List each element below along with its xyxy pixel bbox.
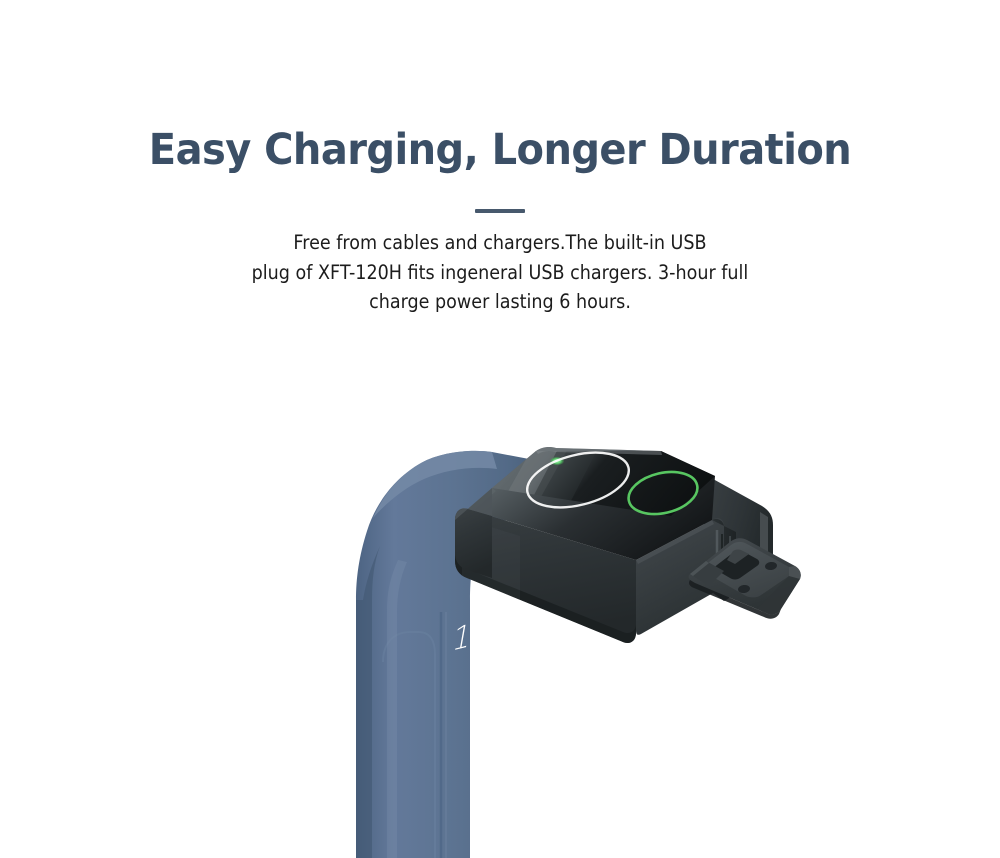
usb-contact-hole-1 (765, 561, 778, 571)
usb-plug-recess (715, 551, 759, 580)
product-feature-page: Easy Charging, Longer Duration Free from… (0, 0, 1000, 858)
strap-top-highlight (373, 451, 497, 518)
usb-plug-neck (690, 561, 724, 586)
case-front-left (455, 509, 636, 643)
case-bottom-shade (455, 552, 636, 643)
hero-text-block: Easy Charging, Longer Duration Free from… (0, 0, 1000, 317)
case-cap-edge (760, 512, 768, 566)
usb-plug-neck-highlight (690, 561, 709, 576)
case-edge-left (455, 488, 496, 523)
hero-description-line-1: Free from cables and chargers.The built-… (293, 231, 706, 254)
usb-plug-bottom-edge (689, 580, 781, 619)
tracker-case: 100 (449, 440, 773, 659)
case-front-right (636, 518, 724, 635)
strap-sheen (387, 560, 407, 858)
case-top-face (455, 447, 715, 560)
case-front-overlap-top (455, 488, 492, 520)
wrist-strap (356, 451, 545, 858)
strap-shape (356, 451, 545, 858)
case-right-side (712, 519, 736, 601)
usb-contact-hole-2 (738, 584, 751, 594)
strap-inset-outline (383, 632, 435, 858)
screen-bezel-highlight (536, 447, 662, 455)
case-front-sheen (462, 518, 520, 600)
usb-plug-body (689, 538, 801, 614)
case-edge-right (636, 520, 714, 564)
charge-indicator-ring-icon (624, 466, 701, 521)
hero-description-line-3: charge power lasting 6 hours. (369, 290, 631, 313)
usb-plug-tip (757, 576, 800, 614)
display-ring-icon (521, 443, 634, 517)
usb-plug-tab (727, 550, 749, 565)
case-rear-cap (704, 474, 773, 570)
hero-description-line-2: plug of XFT-120H fits ingeneral USB char… (252, 261, 749, 284)
page-title: Easy Charging, Longer Duration (35, 0, 965, 174)
strap-left-shadow (356, 546, 380, 858)
status-led-icon (550, 457, 564, 465)
charge-indicator-dots (457, 532, 482, 542)
case-front-overlap (455, 509, 492, 578)
usb-plug-top-face (702, 542, 792, 598)
display-screen (480, 440, 730, 530)
hero-description: Free from cables and chargers.The built-… (50, 206, 950, 317)
usb-plug (689, 538, 801, 618)
usb-plug-tip-highlight (789, 566, 801, 579)
display-value: 100 (449, 609, 508, 659)
